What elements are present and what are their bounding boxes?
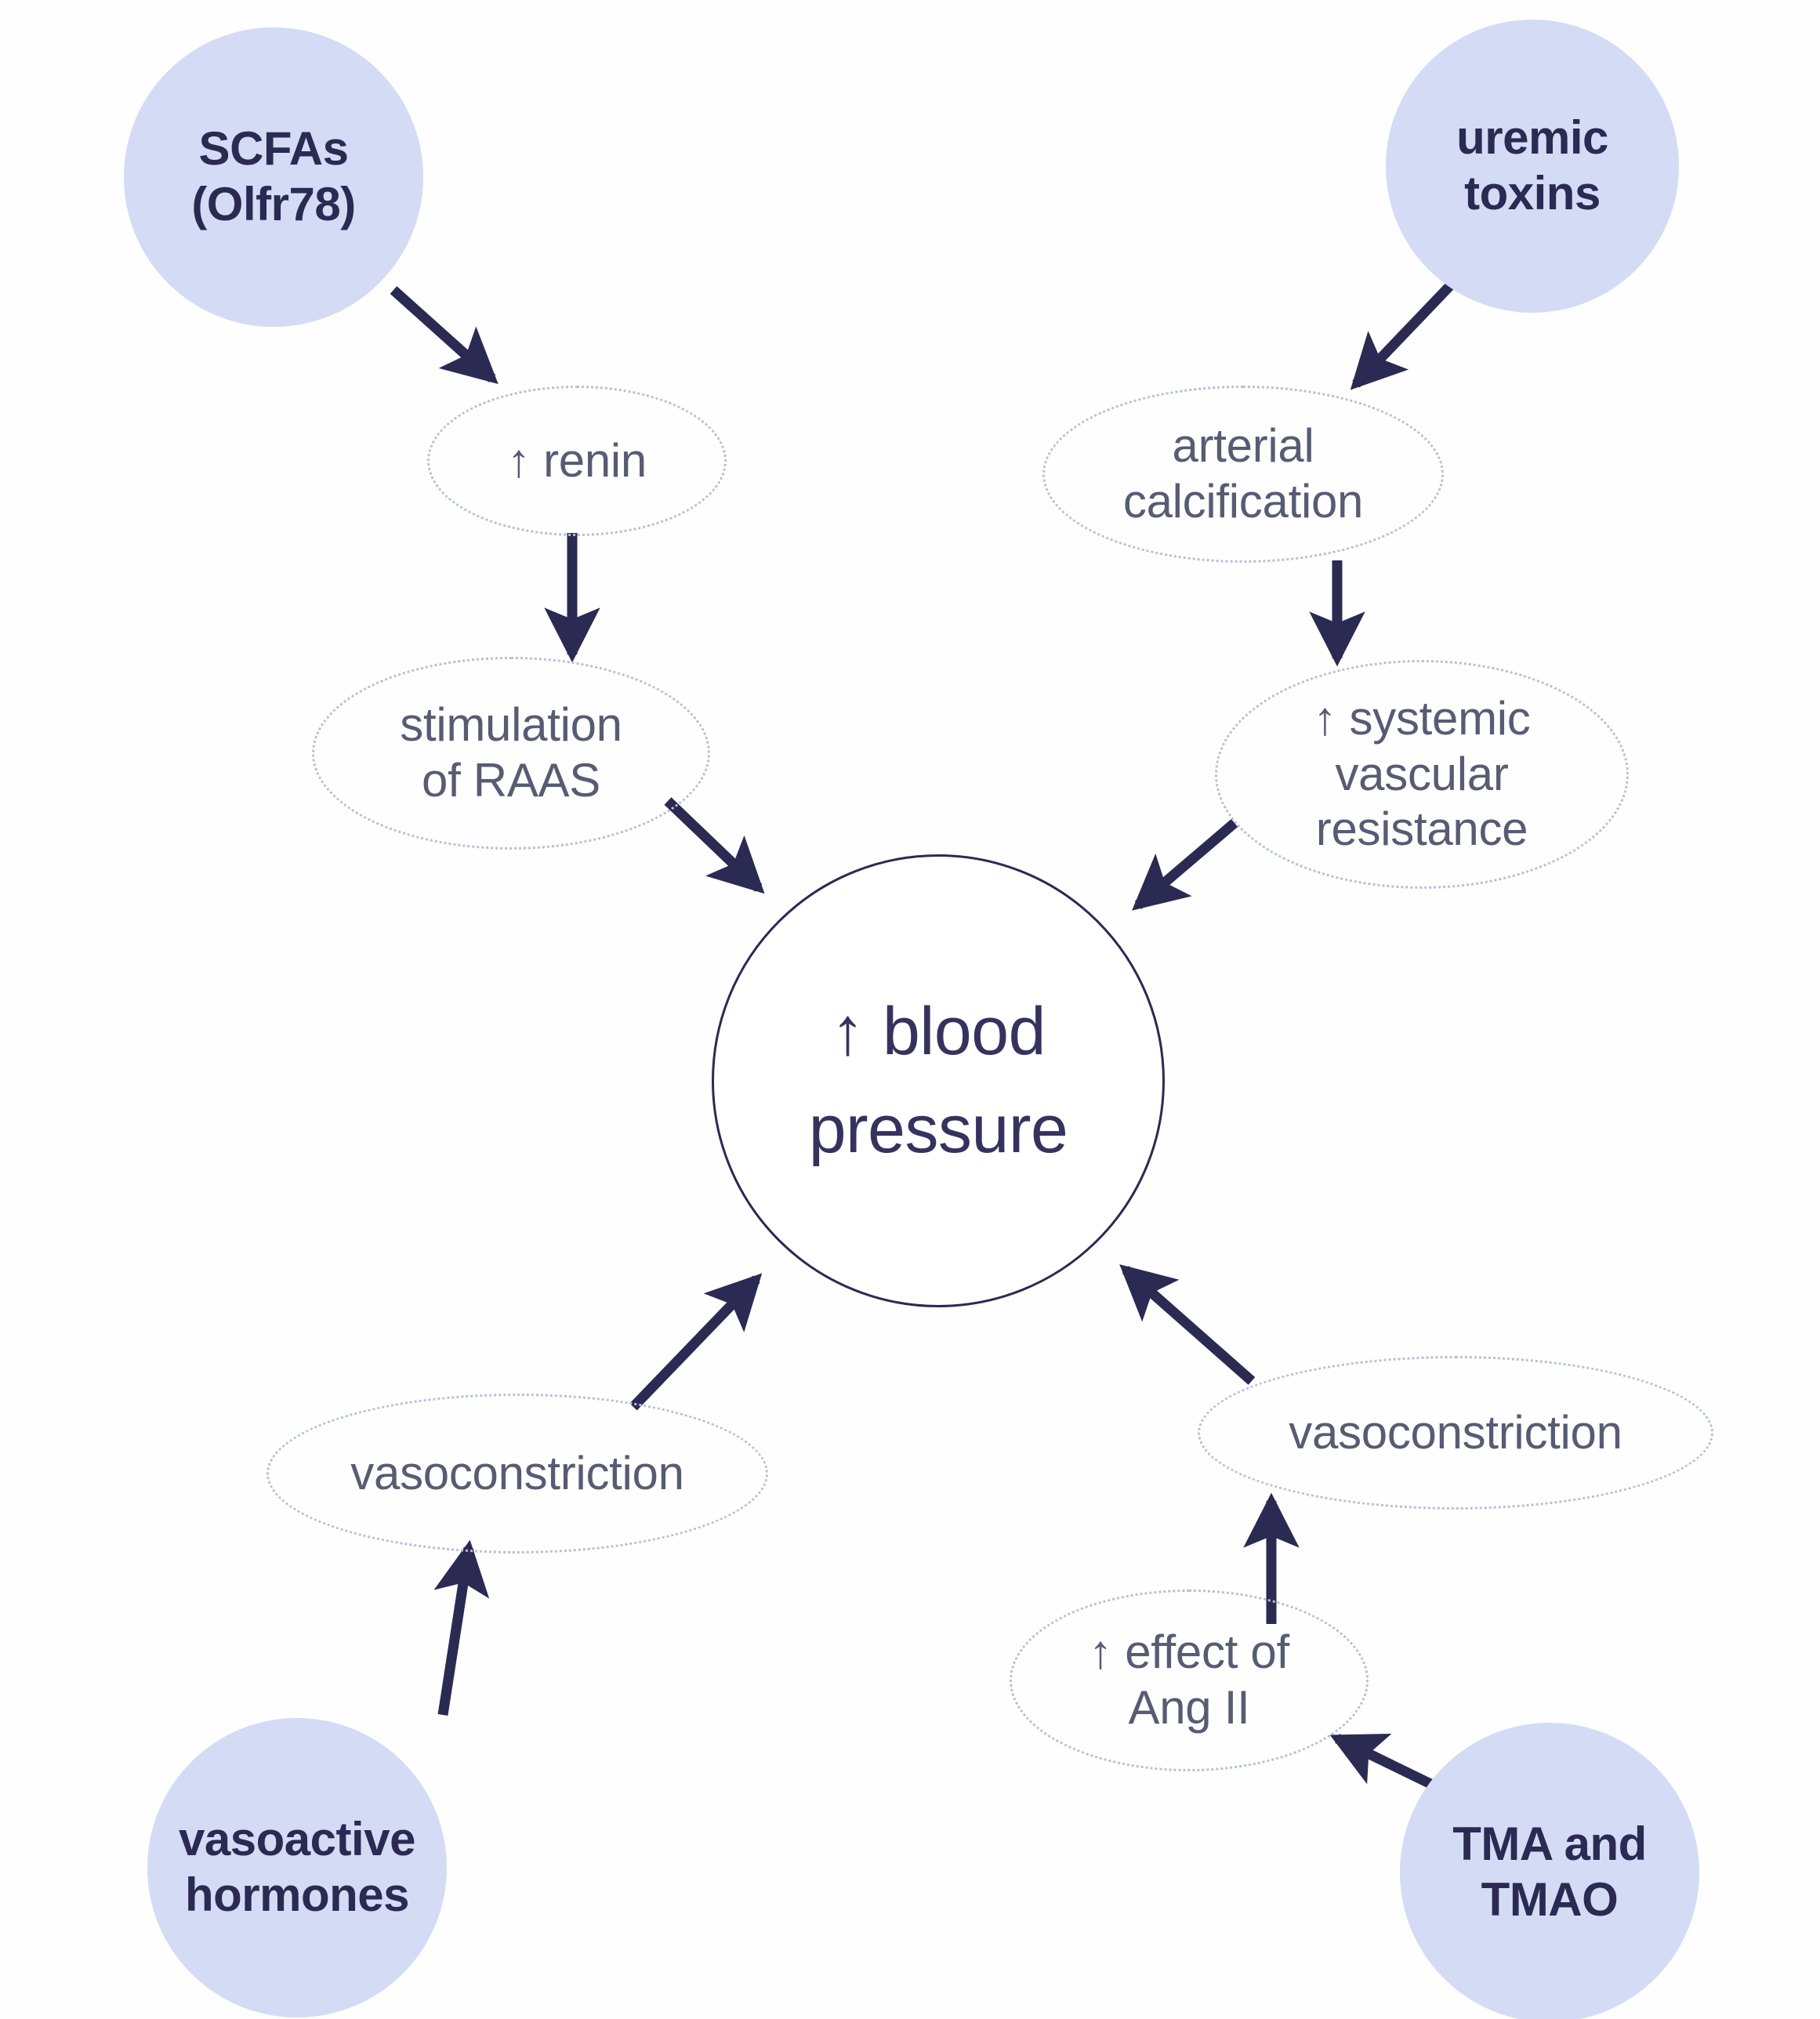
node-arterial-calcification-label: arterial calcification <box>1045 419 1441 530</box>
node-scfas-label: SCFAs (Olfr78) <box>124 121 423 233</box>
node-renin-label: ↑ renin <box>430 433 724 489</box>
node-renin[interactable]: ↑ renin <box>427 386 727 536</box>
node-blood-pressure[interactable]: ↑ blood pressure <box>712 854 1165 1307</box>
node-scfas[interactable]: SCFAs (Olfr78) <box>124 27 423 327</box>
edge-vasoconstriction-left-bp <box>633 1279 756 1407</box>
edge-uremic-calcification <box>1356 276 1459 384</box>
node-systemic-vascular-resistance-label: ↑ systemic vascular resistance <box>1217 691 1626 857</box>
node-vasoconstriction-left[interactable]: vasoconstriction <box>266 1394 768 1553</box>
diagram-canvas: SCFAs (Olfr78) uremic toxins ↑ renin art… <box>0 0 1820 2019</box>
node-vasoactive-hormones-label: vasoactive hormones <box>147 1812 447 1923</box>
node-vasoactive-hormones[interactable]: vasoactive hormones <box>147 1718 447 2017</box>
edge-raas-bp <box>668 801 759 888</box>
edge-vasoactive-vasoconstriction <box>443 1548 469 1715</box>
node-ang-ii[interactable]: ↑ effect of Ang II <box>1010 1589 1369 1771</box>
node-vasoconstriction-right[interactable]: vasoconstriction <box>1198 1356 1713 1510</box>
node-systemic-vascular-resistance[interactable]: ↑ systemic vascular resistance <box>1215 660 1629 889</box>
node-arterial-calcification[interactable]: arterial calcification <box>1042 386 1444 563</box>
edge-scfas-renin <box>393 290 492 379</box>
node-ang-ii-label: ↑ effect of Ang II <box>1012 1625 1366 1736</box>
node-raas[interactable]: stimulation of RAAS <box>312 657 710 850</box>
node-tma-tmao-label: TMA and TMAO <box>1400 1817 1699 1928</box>
node-uremic-toxins-label: uremic toxins <box>1386 111 1679 222</box>
node-raas-label: stimulation of RAAS <box>314 698 708 809</box>
node-vasoconstriction-right-label: vasoconstriction <box>1200 1405 1711 1461</box>
node-vasoconstriction-left-label: vasoconstriction <box>269 1446 766 1502</box>
edge-vasoconstriction-right-bp <box>1126 1270 1252 1381</box>
node-uremic-toxins[interactable]: uremic toxins <box>1386 20 1679 313</box>
node-tma-tmao[interactable]: TMA and TMAO <box>1400 1723 1699 2019</box>
node-blood-pressure-label: ↑ blood pressure <box>714 983 1162 1178</box>
